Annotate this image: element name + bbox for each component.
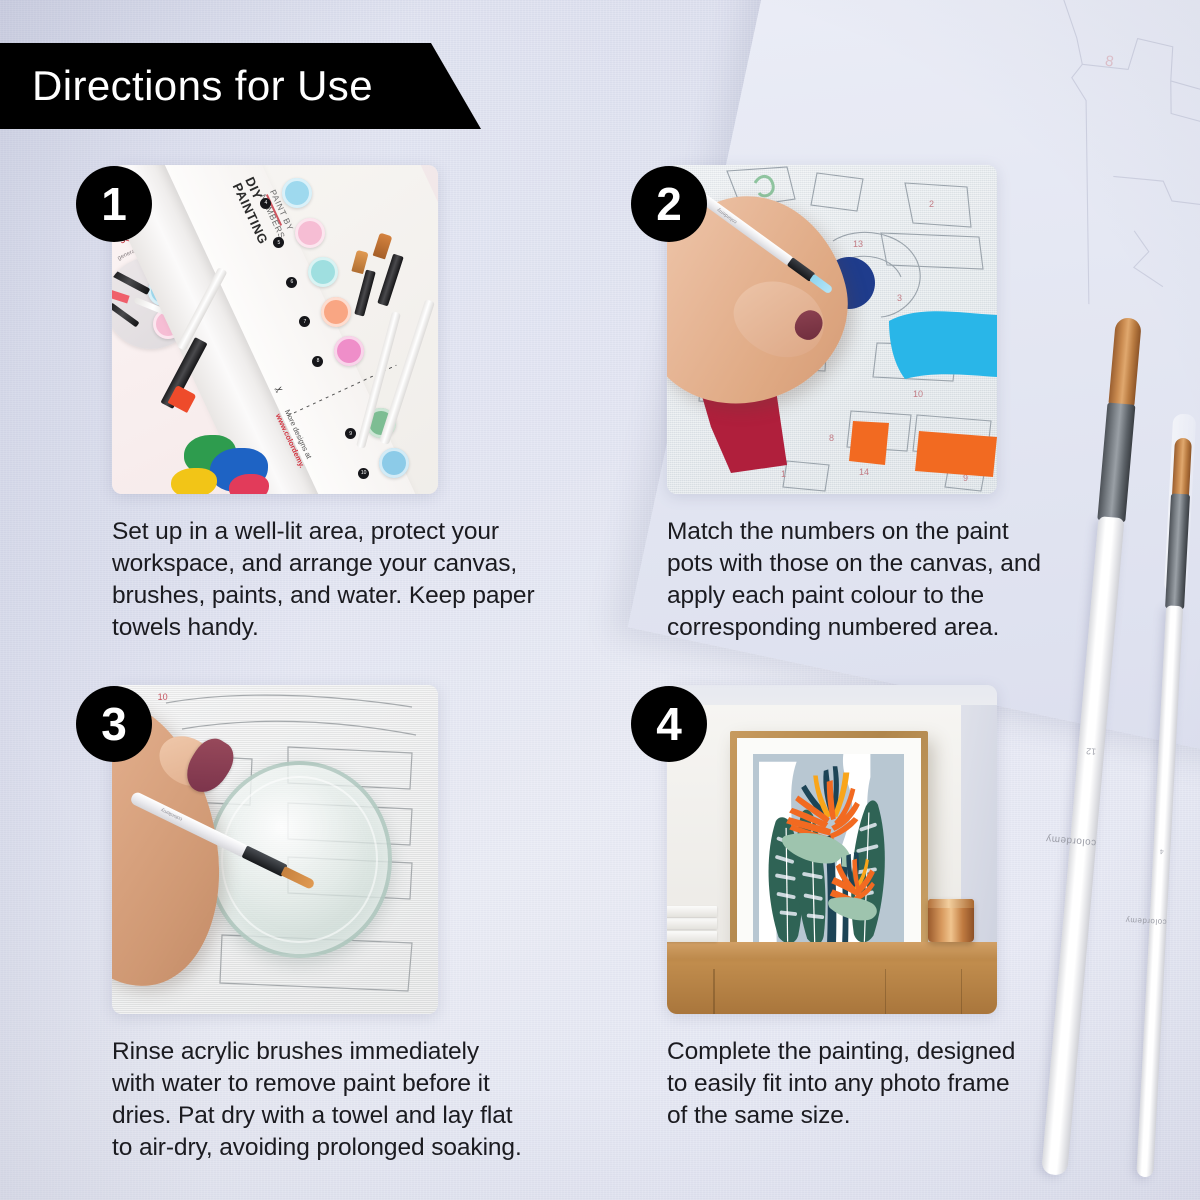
step-4-caption: Complete the painting, designed to easil… (667, 1036, 1087, 1132)
svg-text:10: 10 (913, 389, 923, 399)
svg-text:1: 1 (781, 469, 786, 479)
paint-pot (282, 178, 312, 208)
step-1: SQUARED general, fun for everyone DIYPAI… (112, 165, 592, 643)
svg-text:14: 14 (859, 467, 869, 477)
kit-flatlay-illustration: SQUARED general, fun for everyone DIYPAI… (112, 165, 438, 494)
steps-grid: SQUARED general, fun for everyone DIYPAI… (0, 0, 1200, 1200)
step-1-photo: SQUARED general, fun for everyone DIYPAI… (112, 165, 438, 494)
step-4-number-badge: 4 (631, 686, 707, 762)
artwork-bird-of-paradise (753, 754, 904, 954)
brush-rinsing-illustration: 10 colordemy (112, 685, 438, 1014)
svg-text:3: 3 (897, 293, 902, 303)
shelf (667, 942, 997, 1014)
candle-vessel (928, 899, 974, 942)
step-3-number-badge: 3 (76, 686, 152, 762)
step-2-caption: Match the numbers on the paint pots with… (667, 516, 1087, 643)
paint-pot (321, 297, 351, 327)
paint-pot (334, 336, 364, 366)
step-2-number-badge: 2 (631, 166, 707, 242)
step-2: 2 13 3 10 8 14 1 9 (667, 165, 1147, 643)
step-1-caption: Set up in a well-lit area, protect your … (112, 516, 557, 643)
svg-text:13: 13 (853, 239, 863, 249)
svg-text:2: 2 (929, 199, 934, 209)
canvas-number: 10 (158, 692, 168, 702)
page-header-banner: Directions for Use (0, 43, 500, 129)
step-4: 4 Complete the painting, designed to eas… (667, 685, 1147, 1132)
paint-pot-number: 10 (358, 468, 369, 479)
step-3-photo: 10 colordemy (112, 685, 438, 1014)
stacked-books (667, 905, 717, 941)
step-1-number-badge: 1 (76, 166, 152, 242)
paint-pot (295, 218, 325, 248)
svg-text:8: 8 (829, 433, 834, 443)
water-jar (207, 761, 393, 958)
painting-canvas-illustration: 2 13 3 10 8 14 1 9 (667, 165, 997, 494)
step-2-photo: 2 13 3 10 8 14 1 9 (667, 165, 997, 494)
step-3-caption: Rinse acrylic brushes immediately with w… (112, 1036, 557, 1163)
step-4-photo (667, 685, 997, 1014)
page-title: Directions for Use (0, 65, 373, 107)
framed-artwork-scene (667, 685, 997, 1014)
paint-pot (308, 257, 338, 287)
step-3: 10 colordemy 3 Rinse acrylic brushes imm… (112, 685, 592, 1163)
